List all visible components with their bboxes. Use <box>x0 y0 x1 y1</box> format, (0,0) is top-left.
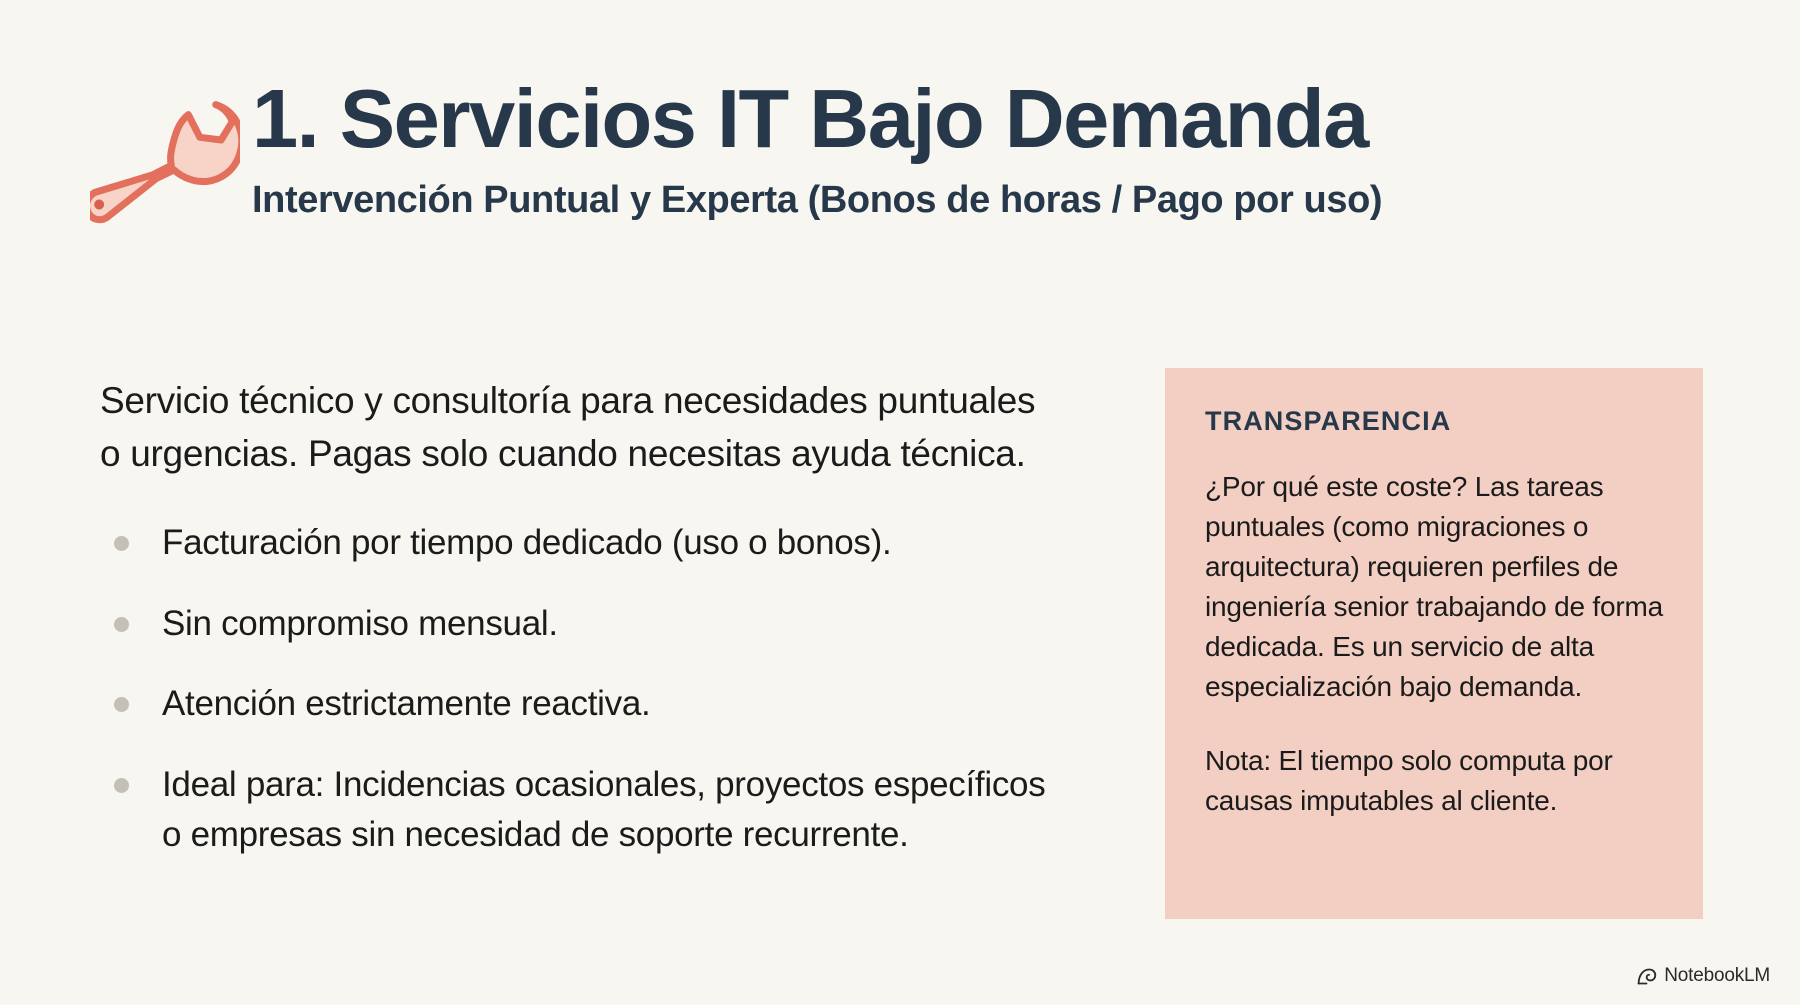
slide-header: 1. Servicios IT Bajo Demanda Intervenció… <box>95 70 1715 255</box>
callout-body: ¿Por qué este coste? Las tareas puntuale… <box>1205 467 1663 707</box>
callout-title: TRANSPARENCIA <box>1205 406 1663 437</box>
list-item: Facturación por tiempo dedicado (uso o b… <box>100 518 1050 568</box>
list-item-label: Atención estrictamente reactiva. <box>162 679 650 729</box>
watermark-label: NotebookLM <box>1664 965 1770 987</box>
list-item: Ideal para: Incidencias ocasionales, pro… <box>100 760 1050 859</box>
callout-note: Nota: El tiempo solo computa por causas … <box>1205 741 1663 821</box>
page-subtitle: Intervención Puntual y Experta (Bonos de… <box>252 178 1382 224</box>
list-item-label: Sin compromiso mensual. <box>162 599 558 649</box>
slide-canvas: 1. Servicios IT Bajo Demanda Intervenció… <box>0 0 1800 1005</box>
bullet-dot-icon <box>114 697 129 712</box>
header-text-block: 1. Servicios IT Bajo Demanda Intervenció… <box>252 70 1382 223</box>
bullet-dot-icon <box>114 778 129 793</box>
list-item-label: Ideal para: Incidencias ocasionales, pro… <box>162 760 1050 859</box>
intro-paragraph: Servicio técnico y consultoría para nece… <box>100 375 1050 480</box>
page-title: 1. Servicios IT Bajo Demanda <box>252 74 1382 164</box>
bullet-dot-icon <box>114 617 129 632</box>
bullet-dot-icon <box>114 536 129 551</box>
list-item-label: Facturación por tiempo dedicado (uso o b… <box>162 518 891 568</box>
list-item: Atención estrictamente reactiva. <box>100 679 1050 729</box>
watermark: NotebookLM <box>1636 965 1770 987</box>
notebooklm-spiral-icon <box>1636 966 1657 987</box>
body-column: Servicio técnico y consultoría para nece… <box>100 375 1050 860</box>
bullet-list: Facturación por tiempo dedicado (uso o b… <box>100 518 1050 859</box>
transparency-callout: TRANSPARENCIA ¿Por qué este coste? Las t… <box>1165 368 1703 919</box>
list-item: Sin compromiso mensual. <box>100 599 1050 649</box>
wrench-icon <box>90 80 240 255</box>
